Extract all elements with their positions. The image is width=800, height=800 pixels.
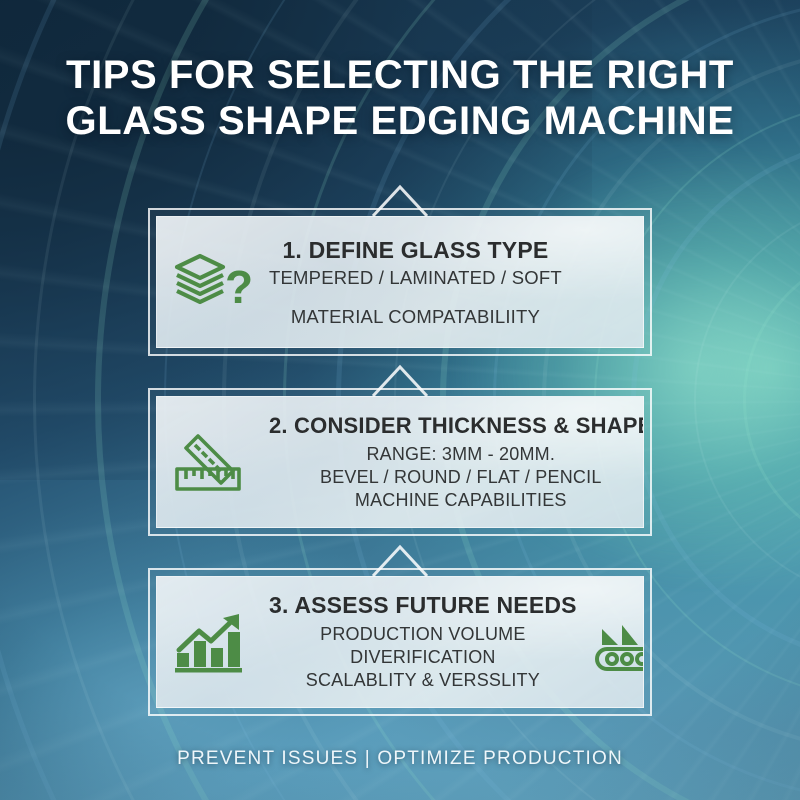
page-title: TIPS FOR SELECTING THE RIGHT GLASS SHAPE…: [0, 52, 800, 144]
card-1-line-2: MATERIAL COMPATABILIITY: [269, 305, 562, 328]
page-title-line-2: GLASS SHAPE EDGING MACHINE: [0, 98, 800, 144]
card-3-line-3: SCALABLITY & VERSSLITY: [269, 669, 577, 692]
card-2-line-2: BEVEL / ROUND / FLAT / PENCIL: [269, 466, 644, 489]
card-3-line-2: DIVERIFICATION: [269, 646, 577, 669]
growth-bar-chart-icon: [157, 608, 265, 676]
glass-stack-question-icon: ?: [157, 251, 265, 313]
footer-tagline: PREVENT ISSUES | OPTIMIZE PRODUCTION: [0, 748, 800, 770]
card-1-body: 1. DEFINE GLASS TYPE TEMPERED / LAMINATE…: [265, 237, 566, 328]
card-consider-thickness-shape[interactable]: 2. CONSIDER THICKNESS & SHAPE RANGE: 3MM…: [148, 388, 652, 536]
page-title-line-1: TIPS FOR SELECTING THE RIGHT: [0, 52, 800, 98]
infographic-canvas: TIPS FOR SELECTING THE RIGHT GLASS SHAPE…: [0, 0, 800, 800]
factory-conveyor-icon: [581, 611, 644, 673]
card-define-glass-type[interactable]: ? 1. DEFINE GLASS TYPE TEMPERED / LAMINA…: [148, 208, 652, 356]
card-2-body: 2. CONSIDER THICKNESS & SHAPE RANGE: 3MM…: [265, 412, 644, 512]
card-2-heading: 2. CONSIDER THICKNESS & SHAPE: [269, 412, 644, 439]
ruler-icon: [157, 429, 265, 495]
card-assess-future-needs[interactable]: 3. ASSESS FUTURE NEEDS PRODUCTION VOLUME…: [148, 568, 652, 716]
card-1-line-1: TEMPERED / LAMINATED / SOFT: [269, 266, 562, 289]
card-1-heading: 1. DEFINE GLASS TYPE: [269, 237, 562, 264]
card-2-line-3: MACHINE CAPABILITIES: [269, 489, 644, 512]
card-3-heading: 3. ASSESS FUTURE NEEDS: [269, 592, 577, 619]
card-3-line-1: PRODUCTION VOLUME: [269, 623, 577, 646]
card-3-body: 3. ASSESS FUTURE NEEDS PRODUCTION VOLUME…: [265, 592, 581, 692]
svg-text:?: ?: [225, 261, 253, 313]
card-2-line-1: RANGE: 3MM - 20MM.: [269, 443, 644, 466]
